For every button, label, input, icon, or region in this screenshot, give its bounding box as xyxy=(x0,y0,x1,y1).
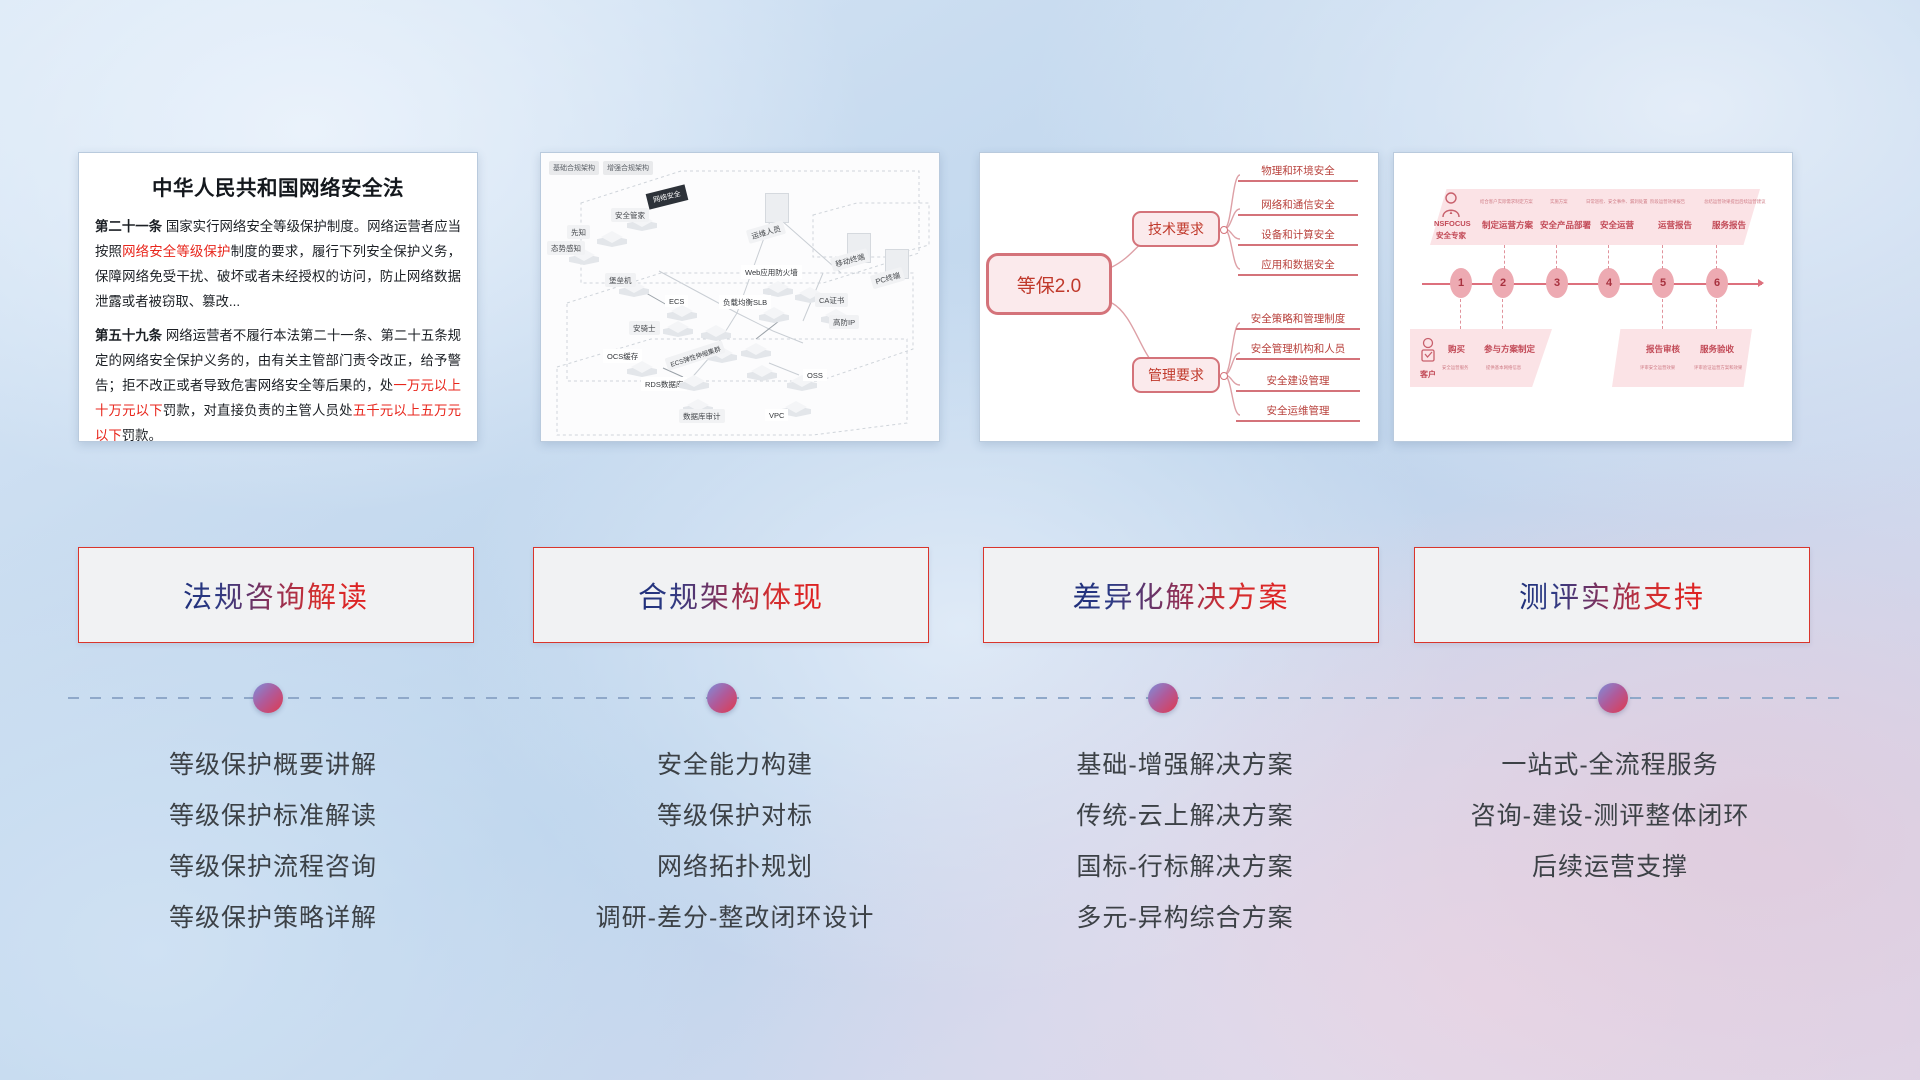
section-title-box-2[interactable]: 合规架构体现 xyxy=(533,547,929,643)
section-title-box-3[interactable]: 差异化解决方案 xyxy=(983,547,1379,643)
law-p59-run-4: 罚款。 xyxy=(122,428,162,442)
connector-top-6 xyxy=(1716,245,1717,269)
page-root: 中华人民共和国网络安全法 第二十一条 国家实行网络安全等级保护制度。网络运营者应… xyxy=(0,0,1920,1080)
timeline-rail xyxy=(68,697,1850,699)
mind-dot-management-icon xyxy=(1220,372,1228,380)
arch-label-xianzhi: 先知 xyxy=(567,225,590,239)
card-compliance-architecture: 基础合规架构 增强合规架构 网络安全 安全管家 先知 态势感知 堡垒机 安骑士 … xyxy=(540,152,940,442)
timeline-arrow-icon xyxy=(1758,279,1764,287)
timeline-node-6[interactable]: 6 xyxy=(1706,268,1728,298)
law-article-21-label: 第二十一条 xyxy=(95,219,162,234)
arch-tab-enhanced[interactable]: 增强合规架构 xyxy=(603,161,653,175)
card-cybersecurity-law: 中华人民共和国网络安全法 第二十一条 国家实行网络安全等级保护制度。网络运营者应… xyxy=(78,152,478,442)
timeline-node-3[interactable]: 3 xyxy=(1546,268,1568,298)
mind-leaf-tech-1: 网络和通信安全 xyxy=(1238,197,1358,216)
law-p21-run-1: 网络安全等级保护 xyxy=(122,244,231,259)
list-item: 等级保护概要讲解 xyxy=(38,740,508,791)
top-step-title-1: 安全产品部署 xyxy=(1540,219,1591,231)
mind-leaf-mgmt-2: 安全建设管理 xyxy=(1236,373,1360,392)
arch-icon-rds xyxy=(679,375,709,395)
connector-top-2 xyxy=(1504,245,1505,269)
arch-label-vpc: VPC xyxy=(765,409,788,421)
arch-label-anti-ddos-ip: 高防IP xyxy=(829,315,859,329)
top-step-sub-0: 结合客户实际需求制定方案 xyxy=(1480,199,1533,205)
mind-leaf-mgmt-0: 安全策略和管理制度 xyxy=(1236,311,1360,330)
connector-bottom-1 xyxy=(1460,299,1461,329)
arch-icon-ecs xyxy=(667,305,697,325)
arch-label-situational-awareness: 态势感知 xyxy=(547,241,585,255)
section-title-label-2: 合规架构体现 xyxy=(638,574,824,616)
bottom-step-title-0: 购买 xyxy=(1448,343,1465,355)
bottom-step-title-1: 参与方案制定 xyxy=(1484,343,1535,355)
arch-icon-operator xyxy=(765,193,789,223)
top-step-sub-2: 日常巡检、安全事件、漏洞处置 xyxy=(1586,199,1647,205)
top-step-sub-1: 实施方案 xyxy=(1550,199,1568,205)
service-timeline: NSFOCUS 安全专家 客户 结合客户实际需求制定方案 制定运营方案 实施方案… xyxy=(1394,153,1792,441)
list-item: 网络拓扑规划 xyxy=(500,842,970,893)
mind-map: 等保2.0 技术要求 管理要求 物理和环境安全 网络和通信安全 设备和计算安全 … xyxy=(980,153,1378,441)
top-step-sub-3: 阶段运营效果报告 xyxy=(1650,199,1685,205)
mind-leaf-tech-2: 设备和计算安全 xyxy=(1238,227,1358,246)
law-text-block: 中华人民共和国网络安全法 第二十一条 国家实行网络安全等级保护制度。网络运营者应… xyxy=(79,153,477,441)
arch-label-oss: OSS xyxy=(803,369,827,381)
connector-bottom-6 xyxy=(1716,299,1717,329)
list-item: 安全能力构建 xyxy=(500,740,970,791)
mind-leaf-mgmt-1: 安全管理机构和人员 xyxy=(1236,341,1360,360)
section-title-row: 法规咨询解读 合规架构体现 差异化解决方案 测评实施支持 xyxy=(0,547,1920,645)
arch-icon-ecs-node-4 xyxy=(741,343,771,363)
mind-leaf-mgmt-3: 安全运维管理 xyxy=(1236,403,1360,422)
list-item: 等级保护流程咨询 xyxy=(38,842,508,893)
section-items-row: 等级保护概要讲解 等级保护标准解读 等级保护流程咨询 等级保护策略详解 安全能力… xyxy=(0,740,1920,980)
timeline-node-2[interactable]: 2 xyxy=(1492,268,1514,298)
bottom-step-sub-0: 安全运营服务 xyxy=(1442,365,1468,371)
section-title-box-1[interactable]: 法规咨询解读 xyxy=(78,547,474,643)
architecture-diagram: 基础合规架构 增强合规架构 网络安全 安全管家 先知 态势感知 堡垒机 安骑士 … xyxy=(541,153,939,441)
arch-label-anqishi: 安骑士 xyxy=(629,321,660,335)
connector-top-3 xyxy=(1556,245,1557,269)
section-title-label-1: 法规咨询解读 xyxy=(183,574,369,616)
card-service-timeline: NSFOCUS 安全专家 客户 结合客户实际需求制定方案 制定运营方案 实施方案… xyxy=(1393,152,1793,442)
list-item: 等级保护对标 xyxy=(500,791,970,842)
section-items-column-2: 安全能力构建 等级保护对标 网络拓扑规划 调研-差分-整改闭环设计 xyxy=(500,740,970,944)
timeline-expert-band xyxy=(1430,189,1760,245)
section-items-column-3: 基础-增强解决方案 传统-云上解决方案 国标-行标解决方案 多元-异构综合方案 xyxy=(950,740,1420,944)
list-item: 咨询-建设-测评整体闭环 xyxy=(1375,791,1845,842)
arch-icon-xianzhi xyxy=(597,231,627,251)
list-item: 国标-行标解决方案 xyxy=(950,842,1420,893)
law-title: 中华人民共和国网络安全法 xyxy=(95,171,461,201)
bottom-step-sub-2: 评审安全运营效果 xyxy=(1640,365,1675,371)
top-step-sub-4: 总结运营效果提出后续运营建议 xyxy=(1704,199,1765,205)
timeline-node-1[interactable]: 1 xyxy=(1450,268,1472,298)
arch-label-db-audit: 数据库审计 xyxy=(679,409,725,423)
customer-label: 客户 xyxy=(1420,369,1436,380)
bottom-step-title-2: 报告审核 xyxy=(1646,343,1680,355)
top-step-title-0: 制定运营方案 xyxy=(1482,219,1533,231)
section-items-column-1: 等级保护概要讲解 等级保护标准解读 等级保护流程咨询 等级保护策略详解 xyxy=(38,740,508,944)
timeline-node-4[interactable]: 4 xyxy=(1598,268,1620,298)
expert-person-icon xyxy=(1440,191,1462,221)
arch-label-bastion-host: 堡垒机 xyxy=(605,273,636,287)
arch-tab-basic[interactable]: 基础合规架构 xyxy=(549,161,599,175)
section-title-label-4: 测评实施支持 xyxy=(1519,574,1705,616)
mind-leaf-tech-3: 应用和数据安全 xyxy=(1238,257,1358,276)
timeline-customer-band-right xyxy=(1612,329,1752,387)
law-article-59-label: 第五十九条 xyxy=(95,328,162,343)
section-items-column-4: 一站式-全流程服务 咨询-建设-测评整体闭环 后续运营支撑 xyxy=(1375,740,1845,893)
list-item: 等级保护标准解读 xyxy=(38,791,508,842)
law-p59-run-2: 罚款，对直接负责的主管人员处 xyxy=(163,403,353,418)
bottom-step-title-3: 服务验收 xyxy=(1700,343,1734,355)
connector-top-5 xyxy=(1662,245,1663,269)
timeline-node-5[interactable]: 5 xyxy=(1652,268,1674,298)
section-title-label-3: 差异化解决方案 xyxy=(1072,574,1289,616)
law-paragraph-59: 第五十九条 网络运营者不履行本法第二十一条、第二十五条规定的网络安全保护义务的，… xyxy=(95,323,461,442)
mind-branch-technical: 技术要求 xyxy=(1132,211,1220,247)
bottom-step-sub-3: 评审验证运营方案和效果 xyxy=(1694,365,1742,371)
customer-person-icon xyxy=(1418,337,1438,369)
arch-label-waf: Web应用防火墙 xyxy=(741,265,802,279)
list-item: 后续运营支撑 xyxy=(1375,842,1845,893)
mind-branch-management: 管理要求 xyxy=(1132,357,1220,393)
list-item: 基础-增强解决方案 xyxy=(950,740,1420,791)
arch-icon-ecs-node-5 xyxy=(747,365,777,385)
rail-knob-3[interactable] xyxy=(1148,683,1178,713)
rail-knob-1[interactable] xyxy=(253,683,283,713)
mind-root-node: 等保2.0 xyxy=(986,253,1112,315)
list-item: 等级保护策略详解 xyxy=(38,893,508,944)
card-mind-map: 等保2.0 技术要求 管理要求 物理和环境安全 网络和通信安全 设备和计算安全 … xyxy=(979,152,1379,442)
list-item: 多元-异构综合方案 xyxy=(950,893,1420,944)
mind-dot-technical-icon xyxy=(1220,226,1228,234)
top-step-title-4: 服务报告 xyxy=(1712,219,1746,231)
top-step-title-2: 安全运营 xyxy=(1600,219,1634,231)
expert-label-role: 安全专家 xyxy=(1436,230,1466,241)
connector-bottom-5 xyxy=(1662,299,1663,329)
arch-icon-slb xyxy=(759,307,789,327)
connector-top-4 xyxy=(1608,245,1609,269)
list-item: 调研-差分-整改闭环设计 xyxy=(500,893,970,944)
list-item: 一站式-全流程服务 xyxy=(1375,740,1845,791)
section-title-box-4[interactable]: 测评实施支持 xyxy=(1414,547,1810,643)
expert-label-brand: NSFOCUS xyxy=(1434,219,1471,228)
arch-label-ca-certificate: CA证书 xyxy=(815,293,848,307)
mind-leaf-tech-0: 物理和环境安全 xyxy=(1238,163,1358,182)
media-card-row: 中华人民共和国网络安全法 第二十一条 国家实行网络安全等级保护制度。网络运营者应… xyxy=(0,152,1920,452)
rail-knob-2[interactable] xyxy=(707,683,737,713)
law-paragraph-21: 第二十一条 国家实行网络安全等级保护制度。网络运营者应当按照网络安全等级保护制度… xyxy=(95,214,461,314)
rail-knob-4[interactable] xyxy=(1598,683,1628,713)
bottom-step-sub-1: 提供基本网络信息 xyxy=(1486,365,1521,371)
arch-label-security-butler: 安全管家 xyxy=(611,208,649,222)
top-step-title-3: 运营报告 xyxy=(1658,219,1692,231)
connector-bottom-2 xyxy=(1502,299,1503,329)
list-item: 传统-云上解决方案 xyxy=(950,791,1420,842)
